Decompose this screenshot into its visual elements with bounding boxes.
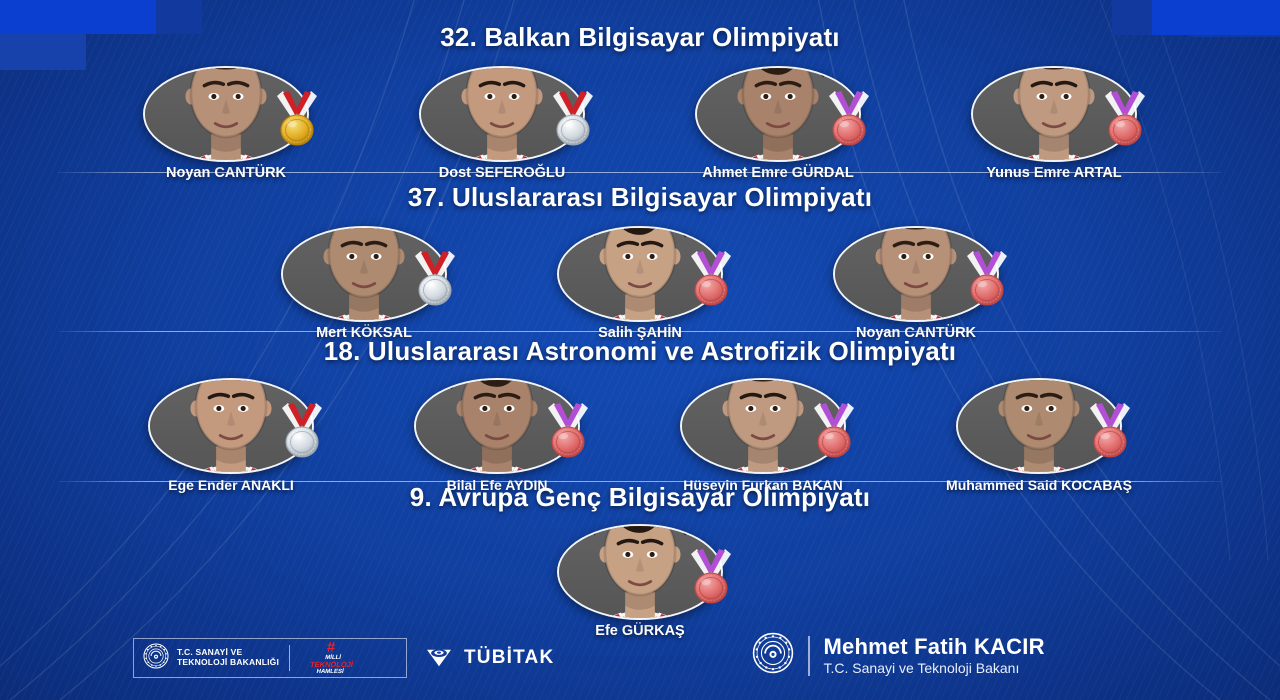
portrait-illustration	[973, 68, 1135, 160]
section-title: 9. Avrupa Genç Bilgisayar Olimpiyatı	[0, 482, 1280, 513]
section-people-row: Noyan CANTÜRK	[0, 66, 1280, 181]
athlete-name: Ahmet Emre GÜRDAL	[702, 165, 853, 181]
athlete-name: Dost SEFEROĞLU	[439, 165, 565, 181]
athlete-photo-wrap	[143, 66, 309, 162]
portrait-illustration	[421, 68, 583, 160]
athlete-name: Noyan CANTÜRK	[166, 165, 286, 181]
portrait-illustration	[559, 228, 721, 320]
athlete-photo-wrap	[680, 378, 846, 474]
ministry-label-line2: TEKNOLOJİ BAKANLIĞI	[177, 658, 279, 668]
minister-name: Mehmet Fatih KACIR	[824, 635, 1045, 659]
athlete-photo	[956, 378, 1122, 474]
athlete-photo	[557, 524, 723, 620]
athlete-card[interactable]: Hüseyin Furkan BAKAN	[680, 378, 846, 493]
footer: T.C. SANAYİ VE TEKNOLOJİ BAKANLIĞI # MİL…	[0, 614, 1280, 700]
section-title: 18. Uluslararası Astronomi ve Astrofizik…	[0, 336, 1280, 367]
portrait-illustration	[559, 526, 721, 618]
portrait-illustration	[416, 380, 578, 472]
minister-ministry-emblem-icon	[752, 632, 794, 679]
athlete-photo	[971, 66, 1137, 162]
portrait-illustration	[283, 228, 445, 320]
athlete-card[interactable]: Ahmet Emre GÜRDAL	[695, 66, 861, 181]
athlete-card[interactable]: Noyan CANTÜRK	[833, 226, 999, 341]
ministry-logo-divider	[289, 645, 290, 671]
athlete-card[interactable]: Noyan CANTÜRK	[143, 66, 309, 181]
athlete-card[interactable]: Muhammed Said KOCABAŞ	[946, 378, 1132, 493]
athlete-photo-wrap	[281, 226, 447, 322]
athlete-card[interactable]: Ege Ender ANAKLI	[148, 378, 314, 493]
portrait-illustration	[697, 68, 859, 160]
ministry-emblem-icon	[143, 643, 169, 674]
minister-block: Mehmet Fatih KACIR T.C. Sanayi ve Teknol…	[752, 632, 1045, 679]
section-divider	[58, 331, 1222, 332]
section-divider	[58, 172, 1222, 173]
athlete-photo	[695, 66, 861, 162]
athlete-photo	[833, 226, 999, 322]
portrait-illustration	[682, 380, 844, 472]
athlete-photo	[148, 378, 314, 474]
athlete-photo-wrap	[414, 378, 580, 474]
athlete-photo-wrap	[695, 66, 861, 162]
portrait-illustration	[835, 228, 997, 320]
ministry-logo-box: T.C. SANAYİ VE TEKNOLOJİ BAKANLIĞI # MİL…	[133, 638, 407, 678]
minister-title: T.C. Sanayi ve Teknoloji Bakanı	[824, 659, 1045, 677]
tubitak-emblem-icon	[424, 640, 454, 675]
section-people-row: Mert KÖKSAL	[0, 226, 1280, 341]
athlete-photo	[680, 378, 846, 474]
athlete-photo	[143, 66, 309, 162]
athlete-photo	[281, 226, 447, 322]
athlete-card[interactable]: Mert KÖKSAL	[281, 226, 447, 341]
athlete-card[interactable]: Salih ŞAHİN	[557, 226, 723, 341]
section-title: 32. Balkan Bilgisayar Olimpiyatı	[0, 22, 1280, 53]
athlete-photo-wrap	[148, 378, 314, 474]
portrait-illustration	[150, 380, 312, 472]
athlete-photo-wrap	[971, 66, 1137, 162]
athlete-photo-wrap	[419, 66, 585, 162]
ministry-label: T.C. SANAYİ VE TEKNOLOJİ BAKANLIĞI	[177, 648, 279, 668]
poster-stage: 32. Balkan Bilgisayar Olimpiyatı	[0, 0, 1280, 700]
athlete-photo	[419, 66, 585, 162]
athlete-card[interactable]: Bilal Efe AYDIN	[414, 378, 580, 493]
tech-move-line3: HAMLESİ	[307, 669, 351, 675]
athlete-photo-wrap	[557, 226, 723, 322]
athlete-photo	[557, 226, 723, 322]
portrait-illustration	[145, 68, 307, 160]
tubitak-logo: TÜBİTAK	[424, 640, 554, 675]
milli-teknoloji-hamlesi-logo: # MİLLİ TEKNOLOJİ HAMLESİ	[300, 642, 362, 675]
athlete-photo-wrap	[833, 226, 999, 322]
athlete-card[interactable]: Dost SEFEROĞLU	[419, 66, 585, 181]
athlete-name: Yunus Emre ARTAL	[986, 165, 1121, 181]
tubitak-label: TÜBİTAK	[464, 647, 554, 669]
athlete-photo	[414, 378, 580, 474]
sections-container: 32. Balkan Bilgisayar Olimpiyatı	[0, 0, 1280, 700]
section-people-row: Ege Ender ANAKLI	[0, 378, 1280, 493]
section-title: 37. Uluslararası Bilgisayar Olimpiyatı	[0, 182, 1280, 213]
athlete-photo-wrap	[557, 524, 723, 620]
athlete-card[interactable]: Yunus Emre ARTAL	[971, 66, 1137, 181]
portrait-illustration	[958, 380, 1120, 472]
minister-divider	[808, 636, 810, 676]
hashtag-icon: #	[327, 642, 335, 654]
athlete-photo-wrap	[956, 378, 1122, 474]
tech-move-line2: TEKNOLOJİ	[309, 661, 354, 669]
